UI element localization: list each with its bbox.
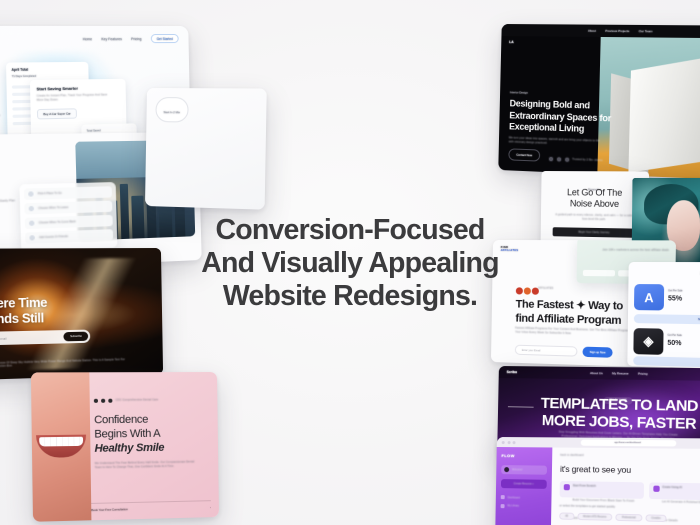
mockup-dental-site: CDC Comprehensive Dental Care Confidence… <box>31 372 219 522</box>
world-option-3: Add Guests Or Friends <box>39 235 68 239</box>
smile-heading-line-1: Confidence <box>94 414 148 427</box>
chat-option-cards: Start From Scratch Build Your Document F… <box>560 481 700 501</box>
savings-nav: Home Key Features Pricing Get Started <box>83 34 179 44</box>
document-icon <box>564 484 570 490</box>
templates-nav-item-0[interactable]: About Us <box>590 371 603 375</box>
savings-panel-a-subtitle: 71 Days Completed <box>12 75 36 78</box>
affiliate-brand: FIND AFFILIATES <box>501 246 519 252</box>
architecture-cta-button[interactable]: Contact Now <box>508 148 540 161</box>
architecture-avatars: Trusted by 2.5k+ clients <box>548 156 603 164</box>
smile-consultation-link[interactable]: Book Your Free Consultation <box>91 507 128 512</box>
calendar-icon <box>29 206 34 211</box>
tablet-tag: Start In 2 Min <box>155 97 188 122</box>
mockup-tablet-blank: Start In 2 Min <box>145 88 267 210</box>
address-bar-url: app.flowai.com/dashboard <box>614 442 641 444</box>
savings-goal-input[interactable]: Buy A Car Super Car <box>37 108 77 120</box>
sparkle-ai-icon <box>653 485 659 491</box>
savings-get-started-button[interactable]: Get Started <box>150 34 178 43</box>
hero-section: Home Key Features Pricing Get Started oo… <box>0 0 700 525</box>
mockup-find-affiliate-widget: FindAffi A Get Per Sale 55% Sign Up Now … <box>627 262 700 369</box>
affiliate-logo-caption: AFFILIATES <box>538 287 599 292</box>
option-card-scratch[interactable]: Start From Scratch Build Your Document F… <box>560 481 644 499</box>
savings-panel-b-title: Start Saving Smarter <box>36 86 78 92</box>
find-affiliate-label-1: Get Per Sale <box>667 334 681 337</box>
smile-paragraph: We Understand The Fear Behind Every Half… <box>95 460 201 469</box>
find-affiliate-percent-0: 55% <box>668 295 682 302</box>
traffic-light-icon <box>507 441 510 444</box>
architecture-nav-item-2[interactable]: Our Team <box>639 29 653 33</box>
time-subscribe-button[interactable]: Subscribe <box>64 332 88 341</box>
smile-footer: Book Your Free Consultation › <box>91 500 211 512</box>
smile-logo: CDC Comprehensive Dental Care <box>94 398 158 403</box>
affiliate-heading-2: Way to <box>588 300 623 313</box>
app-main: back to dashboard it's great to see you … <box>551 447 700 525</box>
find-affiliate-icon-1: ◈ <box>633 328 663 355</box>
user-chip[interactable]: Welcome! <box>501 465 547 475</box>
templates-heading-line-2: MORE JOBS, FASTER <box>542 411 697 432</box>
world-option-2: Choose When To Come Back <box>39 220 76 224</box>
sidebar-item-label: Dashboard <box>508 496 520 499</box>
architecture-nav-item-0[interactable]: About <box>588 29 596 33</box>
list-item[interactable]: Add Guests Or Friends <box>25 229 113 244</box>
affiliate-heading-1: The Fastest <box>516 298 574 311</box>
sparkle-icon: ✦ <box>576 299 585 311</box>
savings-panel-a-title: April Total <box>11 68 28 72</box>
savings-nav-item-1[interactable]: Key Features <box>101 37 122 41</box>
traffic-light-icon <box>502 441 505 444</box>
filter-chip-modern[interactable]: Modern ATS Resume <box>577 512 613 520</box>
find-affiliate-signup-1[interactable]: Sign Up <box>633 356 700 367</box>
world-paragraph: No Commissions, Give Only The Best Decor… <box>0 199 16 209</box>
templates-heading: TEMPLATES TO LAND MORE JOBS, FASTER <box>498 395 700 434</box>
noise-primary-button[interactable]: Begin Your Clarity Journey <box>553 227 636 238</box>
affiliate-email-input[interactable]: Enter your Email <box>515 345 578 357</box>
sidebar-item-library[interactable]: My Library <box>501 504 547 509</box>
list-item[interactable]: Choose When To Come Back <box>25 215 113 230</box>
affiliate-logo-dots <box>516 287 539 294</box>
affiliate-paragraph: Fastest Affiliate Programs For Your Cont… <box>515 327 636 337</box>
smile-photo <box>31 372 92 521</box>
chevron-right-icon: › <box>210 505 211 509</box>
list-item[interactable]: Choose When To Leave <box>24 200 112 214</box>
architecture-heading: Designing Bold and Extraordinary Spaces … <box>509 98 629 137</box>
affiliate-brand-line-2: AFFILIATES <box>501 249 519 252</box>
sidebar-item-dashboard[interactable]: Dashboard <box>501 495 547 500</box>
guests-icon <box>29 235 34 240</box>
templates-nav: Scribo About Us My Resume Pricing Contac… <box>499 366 700 381</box>
architecture-brand: LA <box>509 40 514 44</box>
world-option-1: Choose When To Leave <box>38 206 68 210</box>
smile-heading: Confidence Begins With A Healthy Smile <box>94 412 164 455</box>
tablet-tag-label: Start In 2 Min <box>163 111 180 115</box>
traffic-light-icon <box>513 441 516 444</box>
filter-chip-professional[interactable]: Professional <box>616 513 642 521</box>
time-heading: Where TimeStands Still <box>0 296 47 328</box>
sidebar-nav: Dashboard My Library <box>501 495 547 509</box>
option-card-title: Create Using AI <box>662 485 700 489</box>
library-icon <box>501 504 505 508</box>
find-affiliate-label-0: Get Per Sale <box>668 289 682 292</box>
avatar <box>504 467 509 472</box>
sidebar-item-label: My Library <box>507 504 519 507</box>
affiliate-signup-button[interactable]: Sign up Now <box>582 347 612 358</box>
architecture-nav: About Previous Projects Our Team Contact <box>501 24 700 38</box>
savings-nav-item-0[interactable]: Home <box>83 37 92 41</box>
mockup-dashboard-app: app.flowai.com/dashboard FLOW Welcome! C… <box>495 437 700 525</box>
architecture-kicker: Interior Design <box>510 90 528 94</box>
user-chip-label: Welcome! <box>512 468 523 471</box>
list-item[interactable]: Pick A Place To Go <box>24 186 112 200</box>
time-email-input[interactable]: Enter your email <box>0 336 6 341</box>
calendar-return-icon <box>29 220 34 225</box>
pin-icon <box>28 192 33 197</box>
templates-logo: Scribo <box>507 370 517 374</box>
templates-nav-item-1[interactable]: My Resume <box>612 371 629 375</box>
noise-primary-button-label: Begin Your Clarity Journey <box>578 231 609 235</box>
option-card-ai[interactable]: Create Using AI Let AI Generate A Polish… <box>648 482 700 500</box>
world-option-0: Pick A Place To Go <box>38 192 62 196</box>
architecture-paragraph: We turn your ideas into spaces, warmth a… <box>509 136 606 147</box>
filter-chip-creative[interactable]: Creative <box>645 514 667 522</box>
create-resume-label: Create Resume + <box>514 482 534 485</box>
option-card-title: Start From Scratch <box>573 484 639 488</box>
chat-greeting: it's great to see you <box>560 463 700 476</box>
world-option-list: Pick A Place To Go Choose When To Leave … <box>19 182 117 251</box>
architecture-avatars-label: Trusted by 2.5k+ clients <box>572 158 602 163</box>
option-card-subtitle: Let AI Generate A Polished Document Base… <box>662 500 700 522</box>
savings-panel-b-description: Create An Instant Plan, Track Your Progr… <box>37 93 114 102</box>
find-affiliate-signup-0[interactable]: Sign Up Now <box>634 314 700 324</box>
app-sidebar: FLOW Welcome! Create Resume + Dashboard … <box>495 447 552 525</box>
mockup-space-site: Where TimeStands Still Enter your email … <box>0 248 163 381</box>
smile-heading-line-2: Begins With A <box>94 428 160 441</box>
create-resume-button[interactable]: Create Resume + <box>501 479 547 489</box>
dashboard-icon <box>501 495 505 499</box>
app-logo: FLOW <box>501 453 547 459</box>
affiliate-panel-caption: Join 10K+ marketers across the best affi… <box>577 248 676 252</box>
find-affiliate-icon-0: A <box>634 284 664 310</box>
mockup-architecture-site: About Previous Projects Our Team Contact… <box>498 24 700 180</box>
address-bar[interactable]: app.flowai.com/dashboard <box>580 440 676 447</box>
filter-chip-all[interactable]: All <box>559 512 574 519</box>
noise-paragraph: A guided path to every silence, clarity,… <box>553 213 636 222</box>
back-to-dashboard-link[interactable]: back to dashboard <box>560 454 700 460</box>
templates-nav-item-2[interactable]: Pricing <box>638 372 648 376</box>
smile-logo-label: CDC Comprehensive Dental Care <box>115 399 158 403</box>
architecture-nav-item-1[interactable]: Previous Projects <box>605 29 629 33</box>
affiliate-signup-form: Enter your Email Sign up Now <box>515 345 613 358</box>
savings-nav-item-2[interactable]: Pricing <box>131 37 142 41</box>
find-affiliate-percent-1: 50% <box>667 340 681 347</box>
smile-heading-line-3: Healthy Smile <box>94 442 164 455</box>
affiliate-heading-3: find Affiliate Program <box>515 312 621 327</box>
affiliate-email-placeholder: Enter your Email <box>522 348 541 352</box>
